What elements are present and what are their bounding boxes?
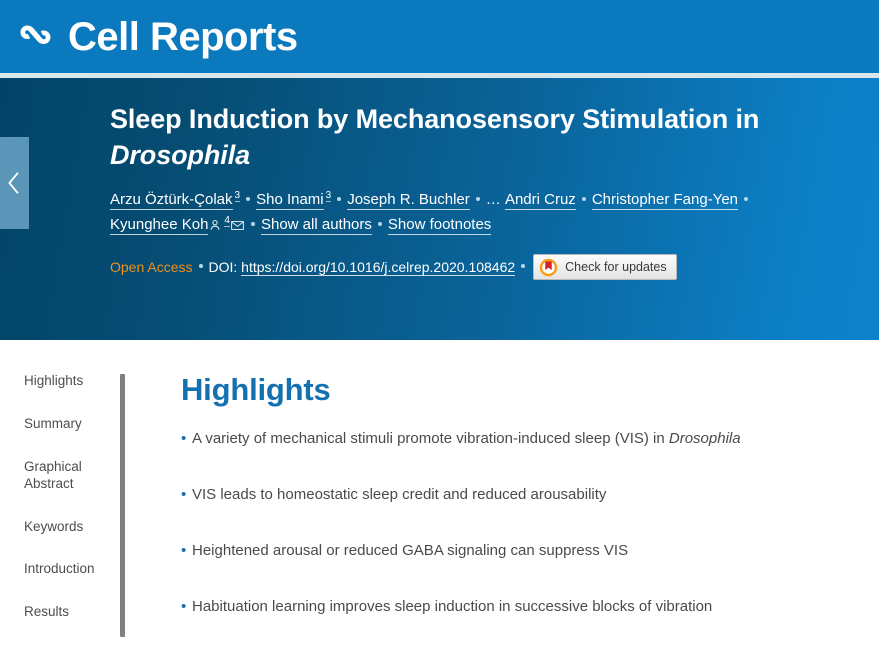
highlights-list: •A variety of mechanical stimuli promote… (181, 428, 871, 617)
author-affil-sup: 4 (224, 215, 230, 227)
hero-body: Sleep Induction by Mechanosensory Stimul… (110, 78, 861, 280)
highlight-text: VIS leads to homeostatic sleep credit an… (192, 486, 606, 503)
show-all-authors-link[interactable]: Show all authors (261, 216, 372, 235)
bullet-icon: • (181, 484, 186, 505)
article-title-main: Sleep Induction by Mechanosensory Stimul… (110, 104, 759, 134)
list-item: •VIS leads to homeostatic sleep credit a… (181, 484, 871, 505)
author-link-2[interactable]: Sho Inami (256, 191, 324, 210)
article-title-italic: Drosophila (110, 140, 250, 170)
article-meta-line: Open Access DOI: https://doi.org/10.1016… (110, 254, 861, 280)
author-link-3[interactable]: Joseph R. Buchler (347, 191, 470, 210)
author-separator-dot (251, 222, 255, 226)
open-access-badge: Open Access (110, 259, 193, 275)
sidebar-item-highlights[interactable]: Highlights (24, 373, 108, 390)
author-separator-dot (744, 197, 748, 201)
authors-ellipsis: … (486, 191, 501, 208)
person-icon[interactable] (209, 219, 221, 231)
sidebar-item-introduction[interactable]: Introduction (24, 561, 108, 578)
author-link-6[interactable]: Christopher Fang-Yen (592, 191, 738, 210)
cell-press-infinity-logo-icon (14, 16, 56, 58)
meta-separator-dot (521, 264, 525, 268)
crossmark-badge-icon (539, 258, 558, 277)
page-title: Highlights (181, 372, 871, 408)
author-link-1[interactable]: Arzu Öztürk-Çolak (110, 191, 233, 210)
list-item: •Heightened arousal or reduced GABA sign… (181, 540, 871, 561)
article-title: Sleep Induction by Mechanosensory Stimul… (110, 102, 861, 173)
author-separator-dot (246, 197, 250, 201)
sidebar-collapse-tab[interactable] (0, 137, 29, 229)
article-hero-header: Sleep Induction by Mechanosensory Stimul… (0, 78, 879, 340)
sidebar-item-summary[interactable]: Summary (24, 416, 108, 433)
article-section-nav: Highlights Summary Graphical Abstract Ke… (0, 340, 120, 637)
bullet-icon: • (181, 540, 186, 561)
author-affil-sup: 3 (326, 190, 332, 202)
journal-brand-bar[interactable]: Cell Reports (0, 0, 879, 73)
meta-separator-dot (199, 264, 203, 268)
chevron-left-icon (6, 169, 23, 197)
envelope-icon[interactable] (231, 220, 244, 231)
author-name: Joseph R. Buchler (347, 191, 470, 208)
journal-title: Cell Reports (68, 17, 298, 57)
check-for-updates-button[interactable]: Check for updates (533, 254, 676, 280)
author-name: Kyunghee Koh (110, 216, 208, 233)
author-separator-dot (378, 222, 382, 226)
author-name: Sho Inami (256, 191, 324, 208)
sidebar-item-results[interactable]: Results (24, 604, 108, 621)
sidebar-item-keywords[interactable]: Keywords (24, 519, 108, 536)
author-link-5[interactable]: Andri Cruz (505, 191, 576, 210)
author-name: Arzu Öztürk-Çolak (110, 191, 233, 208)
sidebar-scrollbar[interactable] (120, 374, 125, 637)
author-name: Andri Cruz (505, 191, 576, 208)
highlight-text: A variety of mechanical stimuli promote … (192, 430, 669, 447)
sidebar-item-graphical-abstract[interactable]: Graphical Abstract (24, 459, 108, 493)
doi-label: DOI: (209, 259, 238, 275)
highlight-text: Habituation learning improves sleep indu… (192, 598, 712, 615)
author-separator-dot (337, 197, 341, 201)
author-name: Christopher Fang-Yen (592, 191, 738, 208)
show-footnotes-link[interactable]: Show footnotes (388, 216, 491, 235)
check-for-updates-label: Check for updates (565, 260, 666, 274)
highlight-text: Heightened arousal or reduced GABA signa… (192, 542, 628, 559)
highlight-text-italic: Drosophila (669, 430, 741, 447)
bullet-icon: • (181, 428, 186, 449)
author-list: Arzu Öztürk-Çolak3Sho Inami3Joseph R. Bu… (110, 188, 861, 238)
author-separator-dot (476, 197, 480, 201)
author-separator-dot (582, 197, 586, 201)
author-affil-sup: 3 (235, 190, 241, 202)
author-link-7[interactable]: Kyunghee Koh (110, 216, 208, 235)
bullet-icon: • (181, 596, 186, 617)
article-content-area: Highlights Summary Graphical Abstract Ke… (0, 340, 879, 637)
list-item: •Habituation learning improves sleep ind… (181, 596, 871, 617)
list-item: •A variety of mechanical stimuli promote… (181, 428, 871, 449)
doi-link[interactable]: https://doi.org/10.1016/j.celrep.2020.10… (241, 259, 515, 276)
highlights-section: Highlights •A variety of mechanical stim… (181, 340, 871, 652)
